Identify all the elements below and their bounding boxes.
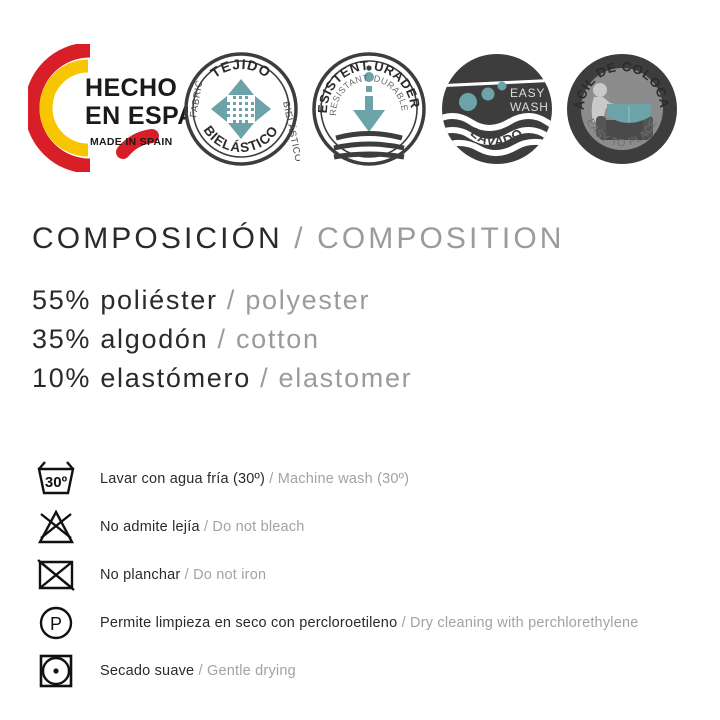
material-percent: 55% [32, 285, 91, 315]
spain-line2: EN ESPAÑA [85, 100, 188, 130]
material-name-en: elastomer [279, 363, 413, 393]
care-row: No admite lejía / Do not bleach [34, 503, 694, 551]
care-text-separator: / [269, 471, 273, 487]
badge-facil-lavado: FÁCIL LAVADO EASY WASH [438, 50, 556, 168]
care-text-es: No planchar [100, 567, 180, 583]
care-text-separator: / [402, 615, 406, 631]
care-text-separator: / [185, 567, 189, 583]
badge-center-line2: WASH [510, 100, 549, 114]
care-text: Permite limpieza en seco con percloroeti… [100, 615, 639, 631]
no-bleach-triangle-icon [34, 505, 80, 549]
composition-title-es: COMPOSICIÓN [32, 222, 283, 255]
material-name-en: polyester [245, 285, 370, 315]
material-name-es: algodón [100, 324, 208, 354]
care-row: P Permite limpieza en seco con percloroe… [34, 599, 694, 647]
care-text-en: Gentle drying [207, 663, 296, 679]
care-row: No planchar / Do not iron [34, 551, 694, 599]
dry-clean-letter: P [50, 614, 62, 634]
care-text-en: Machine wash (30º) [278, 471, 409, 487]
care-text: Secado suave / Gentle drying [100, 663, 296, 679]
composition-material-row: 10% elastómero / elastomer [32, 359, 692, 398]
care-text-es: Permite limpieza en seco con percloroeti… [100, 615, 397, 631]
care-row: 30º Lavar con agua fría (30º) / Machine … [34, 455, 694, 503]
material-separator: / [218, 324, 227, 354]
care-text-separator: / [204, 519, 208, 535]
composition-title-en: COMPOSITION [317, 222, 564, 255]
badge-separator-dot [366, 65, 371, 70]
care-text-es: No admite lejía [100, 519, 200, 535]
dry-clean-p-icon: P [34, 601, 80, 645]
badge-tejido-bielastico: TEJIDO BIELÁSTICO FABRIC BIELÁSTICO [182, 50, 300, 168]
composition-material-list: 55% poliéster / polyester 35% algodón / … [32, 281, 692, 398]
wash-temperature-label: 30º [45, 474, 68, 491]
care-text: No admite lejía / Do not bleach [100, 519, 305, 535]
care-row: Secado suave / Gentle drying [34, 647, 694, 695]
no-iron-icon [34, 553, 80, 597]
material-separator: / [260, 363, 269, 393]
wash-tub-30-icon: 30º [34, 457, 80, 501]
gentle-drying-icon [34, 649, 80, 693]
care-text: No planchar / Do not iron [100, 567, 266, 583]
care-text-en: Do not iron [193, 567, 266, 583]
material-name-es: poliéster [100, 285, 217, 315]
composition-title: COMPOSICIÓN / COMPOSITION [32, 222, 692, 255]
composition-material-row: 55% poliéster / polyester [32, 281, 692, 320]
four-way-stretch-arrows-icon [211, 79, 271, 139]
care-text-separator: / [199, 663, 203, 679]
badge-resistente-duradero: RESISTENTE DURADERO RESISTANT DURABLE [310, 50, 428, 168]
made-in-spain-logo-icon: HECHO EN ESPAÑA MADE IN SPAIN [28, 44, 188, 172]
composition-material-row: 35% algodón / cotton [32, 320, 692, 359]
care-text-es: Secado suave [100, 663, 194, 679]
material-percent: 10% [32, 363, 91, 393]
care-instructions-list: 30º Lavar con agua fría (30º) / Machine … [34, 455, 694, 695]
spain-line1: HECHO [85, 74, 177, 102]
care-text: Lavar con agua fría (30º) / Machine wash… [100, 471, 409, 487]
care-text-en: Dry cleaning with perchlorethylene [410, 615, 638, 631]
care-text-es: Lavar con agua fría (30º) [100, 471, 265, 487]
material-separator: / [227, 285, 236, 315]
care-text-en: Do not bleach [212, 519, 304, 535]
made-in-spain-badge: HECHO EN ESPAÑA MADE IN SPAIN [28, 44, 188, 172]
badge-center-line1: EASY [510, 86, 545, 100]
material-name-es: elastómero [100, 363, 251, 393]
badge-strip: HECHO EN ESPAÑA MADE IN SPAIN [0, 38, 720, 178]
composition-title-separator: / [294, 222, 305, 255]
composition-section: COMPOSICIÓN / COMPOSITION 55% poliéster … [32, 222, 692, 398]
material-percent: 35% [32, 324, 91, 354]
spain-tagline: MADE IN SPAIN [90, 136, 172, 148]
material-name-en: cotton [236, 324, 320, 354]
badge-facil-de-colocar: FÁCIL DE COLOCAR EASY TO PLACE [563, 50, 681, 168]
